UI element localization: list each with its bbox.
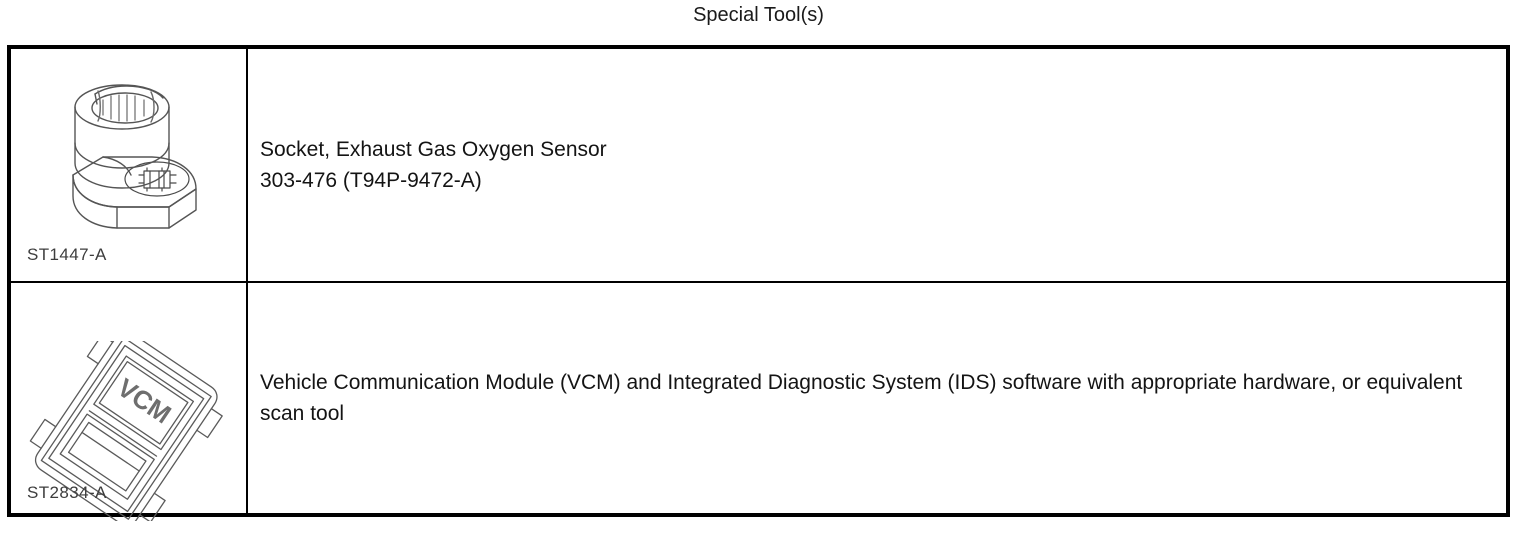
tool-description-line: Vehicle Communication Module (VCM) and I… (260, 367, 1490, 429)
tool-description-line: Socket, Exhaust Gas Oxygen Sensor (260, 134, 1490, 165)
vcm-face-label: VCM (112, 372, 177, 429)
tool-id-label: ST2834-A (27, 483, 107, 503)
special-tools-page: Special Tool(s) (0, 0, 1526, 534)
table-row: ST1447-A Socket, Exhaust Gas Oxygen Sens… (11, 49, 1506, 283)
page-title: Special Tool(s) (7, 3, 1510, 27)
tool-part-number: 303-476 (T94P-9472-A) (260, 165, 1490, 196)
tool-description-cell: Vehicle Communication Module (VCM) and I… (248, 283, 1506, 513)
special-tools-table: ST1447-A Socket, Exhaust Gas Oxygen Sens… (7, 45, 1510, 517)
oxygen-sensor-socket-icon (51, 71, 221, 236)
tool-id-label: ST1447-A (27, 245, 107, 265)
tool-description-cell: Socket, Exhaust Gas Oxygen Sensor 303-47… (248, 49, 1506, 281)
tool-illustration-cell: ST1447-A (11, 49, 248, 281)
tool-illustration-cell: VCM ST2834-A (11, 283, 248, 513)
table-row: VCM ST2834-A Vehicle Communication Modul… (11, 283, 1506, 513)
